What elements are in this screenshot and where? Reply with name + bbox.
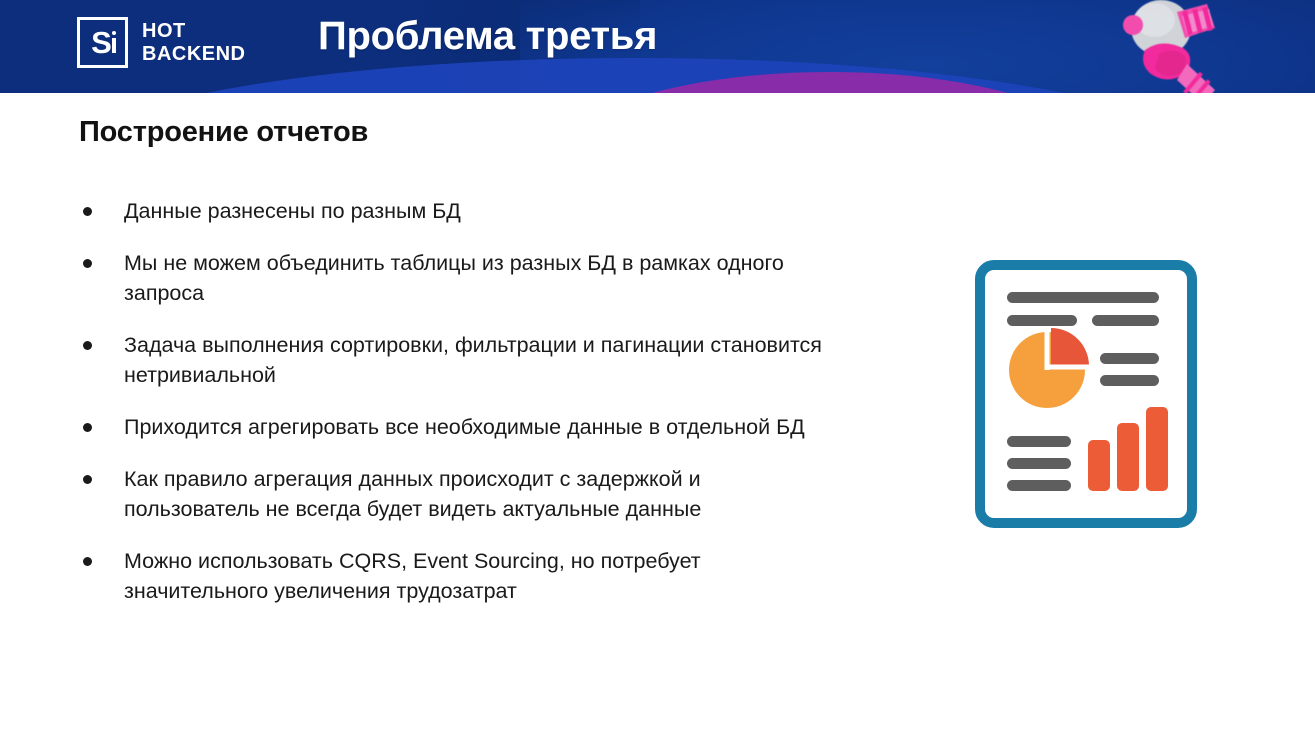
list-item: Мы не можем объединить таблицы из разных…: [79, 248, 839, 308]
text-line-top-right: [1092, 315, 1159, 326]
brand-wordmark-line1: HOT: [142, 20, 246, 43]
list-item: Можно использовать CQRS, Event Sourcing,…: [79, 546, 839, 606]
logo-letter-s: S: [91, 27, 111, 58]
list-item: Данные разнесены по разным БД: [79, 196, 839, 226]
bar-3: [1146, 407, 1168, 491]
pink-splash-icon: [1099, 0, 1249, 93]
brand-wordmark-line2: BACKEND: [142, 43, 246, 66]
slide-header: S HOT BACKEND Проблема третья: [0, 0, 1315, 93]
list-item: Задача выполнения сортировки, фильтрации…: [79, 330, 839, 390]
si-logo-icon: S: [77, 17, 128, 68]
bullet-list: Данные разнесены по разным БД Мы не може…: [79, 196, 869, 628]
report-document-icon: [975, 260, 1197, 528]
slide-root: S HOT BACKEND Проблема третья Построение…: [0, 0, 1315, 741]
list-item: Приходится агрегировать все необходимые …: [79, 412, 839, 442]
logo-letter-i-stem: [112, 38, 116, 53]
text-line-mid-1: [1100, 353, 1159, 364]
list-item: Как правило агрегация данных происходит …: [79, 464, 839, 524]
brand-logo[interactable]: S HOT BACKEND: [77, 17, 246, 68]
text-line-mid-2: [1100, 375, 1159, 386]
text-line-bottom-1: [1007, 436, 1071, 447]
text-line-bottom-3: [1007, 480, 1071, 491]
text-line-top-full: [1007, 292, 1159, 303]
text-line-bottom-2: [1007, 458, 1071, 469]
text-line-top-left: [1007, 315, 1077, 326]
bar-1: [1088, 440, 1110, 491]
bar-2: [1117, 423, 1139, 491]
brand-wordmark: HOT BACKEND: [142, 20, 246, 66]
page-title: Проблема третья: [318, 14, 657, 59]
section-subtitle: Построение отчетов: [79, 116, 368, 149]
logo-letter-i-dot: [112, 31, 116, 35]
